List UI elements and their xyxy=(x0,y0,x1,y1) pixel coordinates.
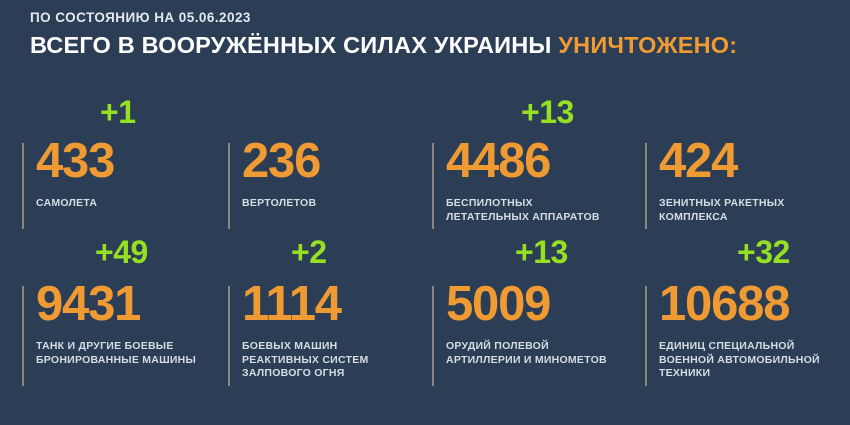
stat-value: 10688 xyxy=(659,280,789,329)
stat-cell-sam-systems: 424 ЗЕНИТНЫХ РАКЕТНЫХ КОМПЛЕКСА xyxy=(645,96,850,236)
stat-delta: +2 xyxy=(291,236,326,268)
stat-value: 236 xyxy=(242,137,320,186)
page-title-main: ВСЕГО В ВООРУЖЁННЫХ СИЛАХ УКРАИНЫ xyxy=(30,32,558,58)
stat-delta: +1 xyxy=(100,96,135,128)
stat-cell-tanks-afv: +49 9431 ТАНК И ДРУГИЕ БОЕВЫЕ БРОНИРОВАН… xyxy=(22,236,228,392)
stat-value: 5009 xyxy=(446,280,550,329)
stat-value: 433 xyxy=(36,137,114,186)
stat-cell-mlrs: +2 1114 БОЕВЫХ МАШИН РЕАКТИВНЫХ СИСТЕМ З… xyxy=(228,236,432,392)
stat-caption: ВЕРТОЛЕТОВ xyxy=(242,197,316,211)
cell-divider xyxy=(228,143,230,229)
cell-divider xyxy=(22,143,24,229)
report-date: ПО СОСТОЯНИЮ НА 05.06.2023 xyxy=(30,11,737,25)
stat-delta: +49 xyxy=(95,236,148,268)
stat-value: 1114 xyxy=(242,280,341,329)
stat-cell-artillery: +13 5009 ОРУДИЙ ПОЛЕВОЙ АРТИЛЛЕРИИ И МИН… xyxy=(432,236,645,392)
stat-delta: +13 xyxy=(521,96,574,128)
stat-caption: ЕДИНИЦ СПЕЦИАЛЬНОЙ ВОЕННОЙ АВТОМОБИЛЬНОЙ… xyxy=(659,340,820,381)
stat-caption: БЕСПИЛОТНЫХ ЛЕТАТЕЛЬНЫХ АППАРАТОВ xyxy=(446,197,600,224)
page-title-highlight: УНИЧТОЖЕНО: xyxy=(558,32,737,58)
stat-caption: БОЕВЫХ МАШИН РЕАКТИВНЫХ СИСТЕМ ЗАЛПОВОГО… xyxy=(242,340,368,381)
stat-value: 4486 xyxy=(446,137,550,186)
stat-caption: ТАНК И ДРУГИЕ БОЕВЫЕ БРОНИРОВАННЫЕ МАШИН… xyxy=(36,340,196,367)
stat-delta: +32 xyxy=(737,236,790,268)
page-title: ВСЕГО В ВООРУЖЁННЫХ СИЛАХ УКРАИНЫ УНИЧТО… xyxy=(30,34,737,58)
stat-value: 424 xyxy=(659,137,737,186)
stats-row-1: +1 433 САМОЛЕТА 236 ВЕРТОЛЕТОВ +13 4486 … xyxy=(0,96,850,236)
stat-caption: САМОЛЕТА xyxy=(36,197,97,211)
stat-cell-aircraft: +1 433 САМОЛЕТА xyxy=(22,96,228,236)
stat-cell-uav: +13 4486 БЕСПИЛОТНЫХ ЛЕТАТЕЛЬНЫХ АППАРАТ… xyxy=(432,96,645,236)
cell-divider xyxy=(432,286,434,386)
cell-divider xyxy=(228,286,230,386)
stats-row-2: +49 9431 ТАНК И ДРУГИЕ БОЕВЫЕ БРОНИРОВАН… xyxy=(0,236,850,392)
cell-divider xyxy=(645,286,647,386)
stat-cell-helicopters: 236 ВЕРТОЛЕТОВ xyxy=(228,96,432,236)
stat-caption: ОРУДИЙ ПОЛЕВОЙ АРТИЛЛЕРИИ И МИНОМЕТОВ xyxy=(446,340,607,367)
cell-divider xyxy=(432,143,434,229)
header: ПО СОСТОЯНИЮ НА 05.06.2023 ВСЕГО В ВООРУ… xyxy=(30,11,737,57)
stat-caption: ЗЕНИТНЫХ РАКЕТНЫХ КОМПЛЕКСА xyxy=(659,197,785,224)
cell-divider xyxy=(645,143,647,229)
stat-cell-military-vehicles: +32 10688 ЕДИНИЦ СПЕЦИАЛЬНОЙ ВОЕННОЙ АВТ… xyxy=(645,236,850,392)
stat-delta: +13 xyxy=(515,236,568,268)
infographic-root: ПО СОСТОЯНИЮ НА 05.06.2023 ВСЕГО В ВООРУ… xyxy=(0,0,850,425)
stat-value: 9431 xyxy=(36,280,140,329)
cell-divider xyxy=(22,286,24,386)
